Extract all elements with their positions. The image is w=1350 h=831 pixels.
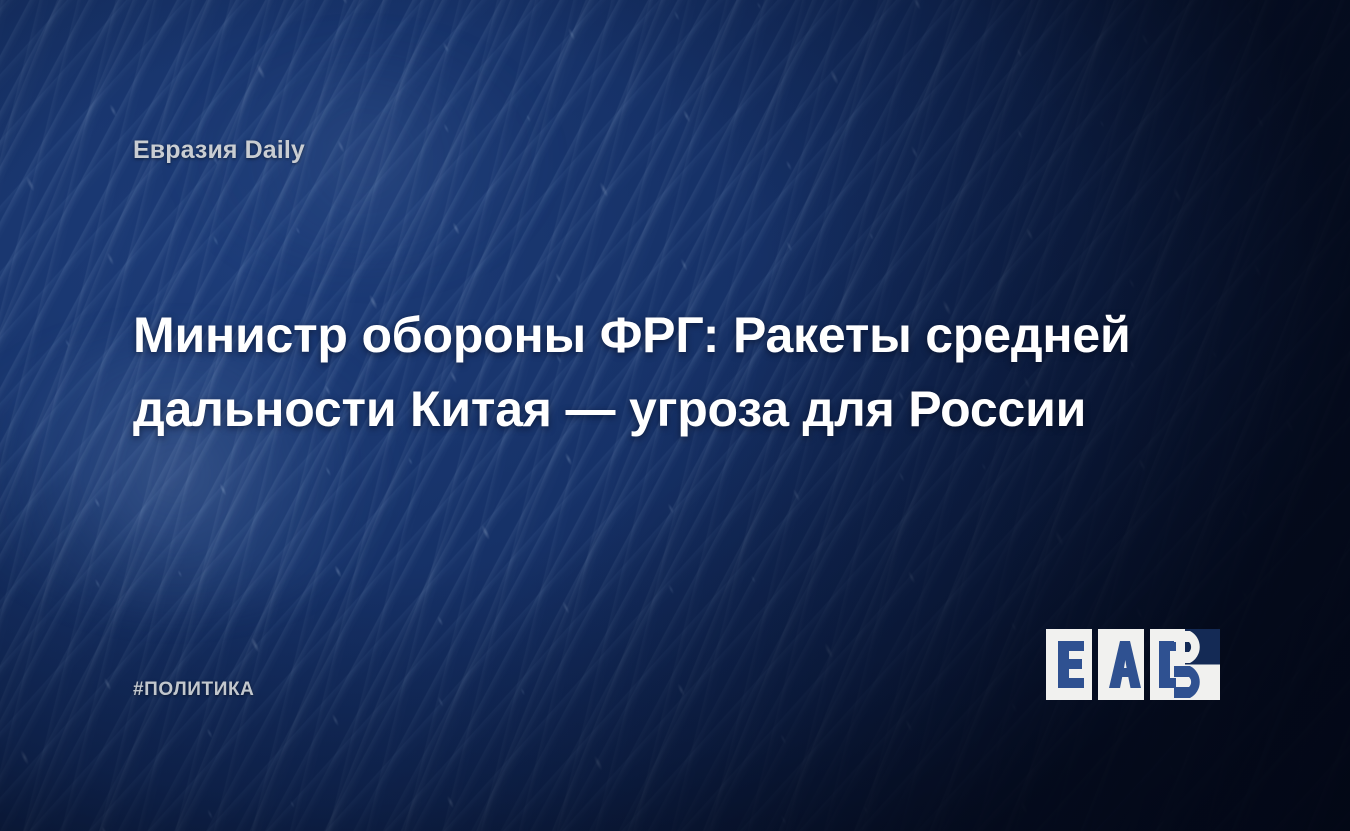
eadaily-logo-mark <box>1046 629 1220 700</box>
news-card: Евразия Daily Министр обороны ФРГ: Ракет… <box>0 0 1350 831</box>
headline: Министр обороны ФРГ: Ракеты средней даль… <box>133 298 1243 446</box>
eadaily-logo[interactable] <box>1046 629 1220 700</box>
category-tag[interactable]: #ПОЛИТИКА <box>133 679 255 701</box>
brand-name: Евразия Daily <box>133 136 305 165</box>
card-content: Евразия Daily Министр обороны ФРГ: Ракет… <box>0 0 1350 831</box>
